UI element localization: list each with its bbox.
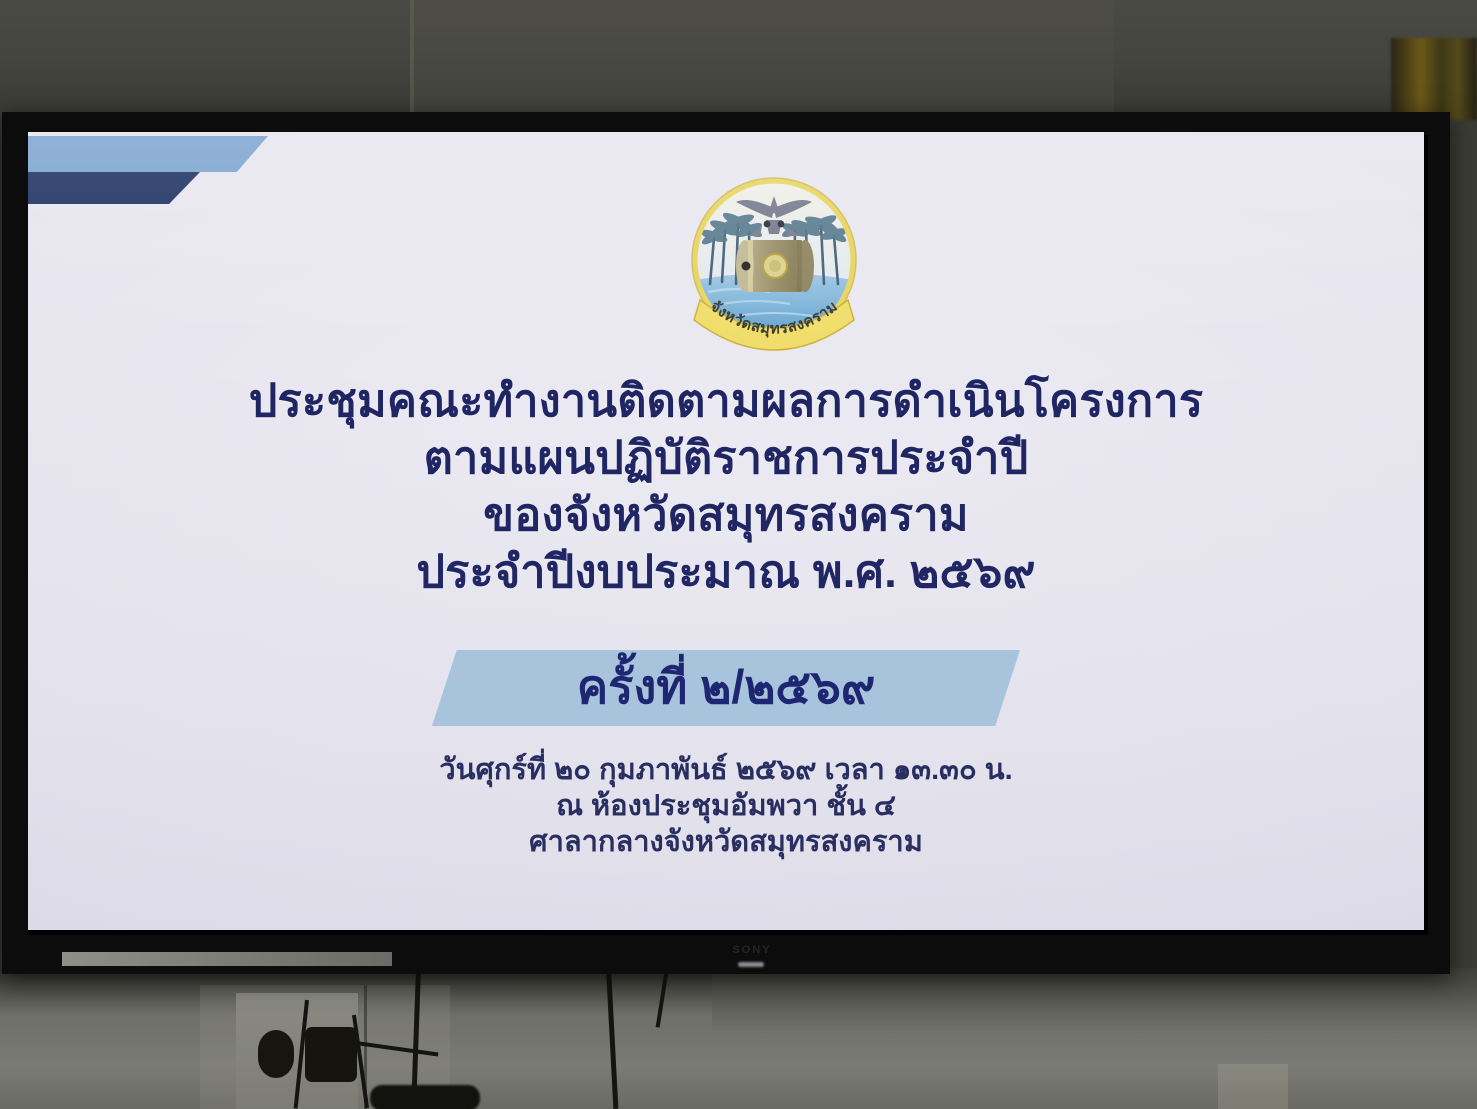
wall-upper-panel: [414, 0, 1114, 118]
decorative-bar-light: [28, 136, 268, 172]
title-line-3: ของจังหวัดสมุทรสงคราม: [28, 486, 1424, 543]
meeting-room: ณ ห้องประชุมอัมพวา ชั้น ๔: [28, 788, 1424, 824]
cable-bundle: [370, 1085, 480, 1109]
meeting-building: ศาลากลางจังหวัดสมุทรสงคราม: [28, 824, 1424, 860]
title-line-1: ประชุมคณะทำงานติดตามผลการดำเนินโครงการ: [28, 372, 1424, 429]
provincial-seal-logo: จังหวัดสมุทรสงคราม: [678, 174, 870, 356]
slide-title-block: ประชุมคณะทำงานติดตามผลการดำเนินโครงการ ต…: [28, 372, 1424, 600]
photo-scene: SONY: [0, 0, 1477, 1109]
decorative-bar-navy: [28, 172, 200, 204]
title-line-2: ตามแผนปฏิบัติราชการประจำปี: [28, 429, 1424, 486]
title-line-4: ประจำปีงบประมาณ พ.ศ. ๒๕๖๙: [28, 543, 1424, 600]
presentation-slide: จังหวัดสมุทรสงคราม ประชุมคณะทำงานติดตามผ…: [28, 132, 1424, 930]
power-adapter: [305, 1027, 357, 1082]
wall-outlet-plate-right: [1218, 1064, 1288, 1109]
session-banner: ครั้งที่ ๒/๒๕๖๙: [432, 650, 1020, 726]
session-banner-wrap: ครั้งที่ ๒/๒๕๖๙: [28, 650, 1424, 732]
wooden-object: [1391, 38, 1477, 120]
wall-shadow-right: [712, 968, 1477, 1034]
meeting-datetime: วันศุกร์ที่ ๒๐ กุมภาพันธ์ ๒๕๖๙ เวลา ๑๓.๓…: [28, 752, 1424, 788]
session-banner-text: ครั้งที่ ๒/๒๕๖๙: [432, 650, 1020, 726]
slide-meta-block: วันศุกร์ที่ ๒๐ กุมภาพันธ์ ๒๕๖๙ เวลา ๑๓.๓…: [28, 752, 1424, 860]
bezel-sticker: [62, 952, 392, 966]
sony-logo: SONY: [717, 944, 787, 960]
power-plug-round: [258, 1030, 294, 1078]
power-led-indicator: [738, 962, 764, 967]
